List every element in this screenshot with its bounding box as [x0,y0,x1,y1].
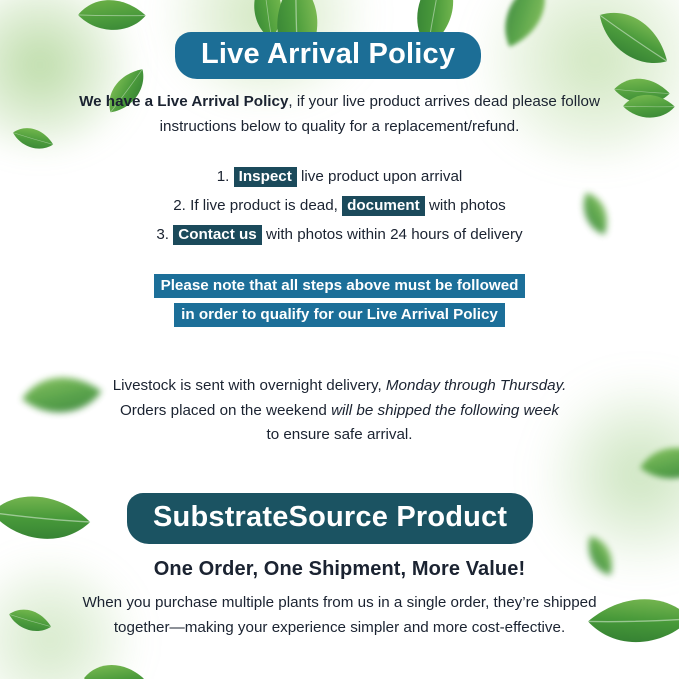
step-2-highlight: document [342,196,425,216]
livestock-line-2-italic: will be shipped the following week [331,402,559,419]
substrate-source-product-banner: SubstrateSource Product [127,493,533,544]
livestock-line-3: to ensure safe arrival. [0,423,679,448]
policy-note-line-2: in order to qualify for our Live Arrival… [0,305,679,326]
step-3-highlight: Contact us [173,225,261,245]
intro-line-1-rest: , if your live product arrives dead plea… [288,93,600,110]
substrate-line-1: When you purchase multiple plants from u… [0,591,679,616]
live-arrival-policy-infographic: Live Arrival Policy We have a Live Arriv… [0,0,679,679]
list-item: 3. Contact us with photos within 24 hour… [0,226,679,244]
intro-bold-lead: We have a Live Arrival Policy [79,93,288,110]
page-title: One Order, One Shipment, More Value! [0,558,679,581]
livestock-line-2: Orders placed on the weekend will be shi… [0,399,679,424]
livestock-line-1: Livestock is sent with overnight deliver… [0,374,679,399]
list-item: 2. If live product is dead, document wit… [0,197,679,215]
step-2-before: If live product is dead, [190,197,338,214]
policy-note-line-1: Please note that all steps above must be… [0,276,679,297]
step-3-number: 3. [156,226,169,243]
livestock-line-1-italic: Monday through Thursday. [386,377,566,394]
live-arrival-policy-banner-label: Live Arrival Policy [201,38,455,70]
livestock-shipping-paragraph: Livestock is sent with overnight deliver… [0,374,679,448]
substrate-source-paragraph: When you purchase multiple plants from u… [0,591,679,640]
substrate-source-product-banner-label: SubstrateSource Product [153,501,507,533]
step-1-number: 1. [217,168,230,185]
step-1-after: live product upon arrival [301,168,462,185]
substrate-line-2: together—making your experience simpler … [0,616,679,641]
intro-paragraph: We have a Live Arrival Policy, if your l… [0,90,679,139]
policy-note-line-2-label: in order to qualify for our Live Arrival… [174,303,505,327]
list-item: 1. Inspect live product upon arrival [0,168,679,186]
intro-line-1: We have a Live Arrival Policy, if your l… [0,90,679,115]
policy-note-line-1-label: Please note that all steps above must be… [154,274,526,298]
live-arrival-policy-banner: Live Arrival Policy [175,32,481,79]
livestock-line-1-plain: Livestock is sent with overnight deliver… [113,377,386,394]
livestock-line-2-plain: Orders placed on the weekend [120,402,331,419]
step-2-number: 2. [173,197,186,214]
step-2-after: with photos [429,197,506,214]
step-3-after: with photos within 24 hours of delivery [266,226,523,243]
step-1-highlight: Inspect [234,167,297,187]
intro-line-2: instructions below to quality for a repl… [0,115,679,140]
